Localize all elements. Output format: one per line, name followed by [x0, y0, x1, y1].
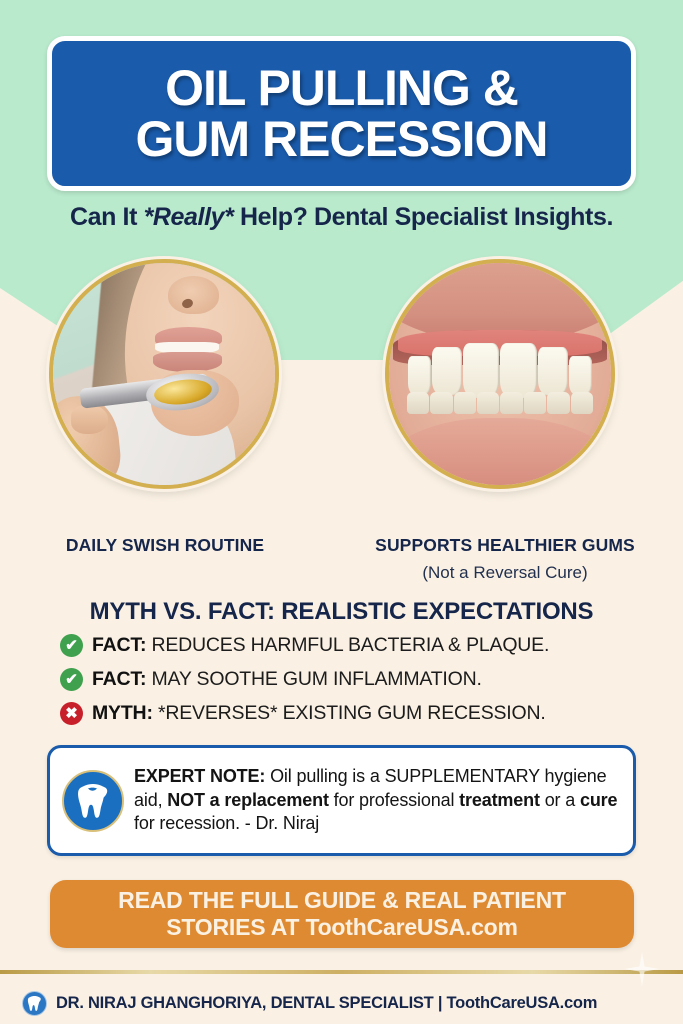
photo-illustration-oil-spoon — [53, 263, 275, 485]
expert-note-box: EXPERT NOTE: Oil pulling is a SUPPLEMENT… — [47, 745, 636, 856]
expert-note-text: EXPERT NOTE: Oil pulling is a SUPPLEMENT… — [134, 765, 619, 836]
caption-left: DAILY SWISH ROUTINE — [20, 535, 310, 556]
tooth-icon — [62, 770, 124, 832]
expert-note-bold3: cure — [580, 790, 617, 810]
list-item-text: FACT: MAY SOOTHE GUM INFLAMMATION. — [92, 668, 482, 691]
subtitle-after: Help? Dental Specialist Insights. — [233, 203, 613, 231]
list-item-body: MAY SOOTHE GUM INFLAMMATION. — [146, 668, 481, 690]
tooth-icon — [22, 991, 47, 1016]
subtitle: Can It *Really* Help? Dental Specialist … — [0, 203, 683, 232]
expert-note-bold2: treatment — [459, 790, 540, 810]
close-up-smile-gums-photo — [385, 259, 615, 489]
list-item-body: REDUCES HARMFUL BACTERIA & PLAQUE. — [146, 634, 549, 656]
myth-vs-fact-list: ✔ FACT: REDUCES HARMFUL BACTERIA & PLAQU… — [60, 628, 660, 730]
list-item: ✔ FACT: MAY SOOTHE GUM INFLAMMATION. — [60, 662, 660, 696]
check-circle-icon: ✔ — [60, 634, 83, 657]
x-circle-icon: ✖ — [60, 702, 83, 725]
expert-note-label: EXPERT NOTE: — [134, 766, 265, 786]
subtitle-before: Can It — [70, 203, 144, 231]
read-full-guide-cta-button[interactable]: READ THE FULL GUIDE & REAL PATIENT STORI… — [50, 880, 634, 948]
list-item-body: *REVERSES* EXISTING GUM RECESSION. — [153, 702, 546, 724]
sparkle-decoration — [625, 952, 659, 986]
myth-vs-fact-heading: MYTH VS. FACT: REALISTIC EXPECTATIONS — [0, 598, 683, 626]
list-item-text: FACT: REDUCES HARMFUL BACTERIA & PLAQUE. — [92, 634, 549, 657]
footer-divider — [0, 970, 683, 974]
caption-right: SUPPORTS HEALTHIER GUMS — [340, 535, 670, 556]
expert-note-part3: or a — [540, 790, 580, 810]
list-item: ✖ MYTH: *REVERSES* EXISTING GUM RECESSIO… — [60, 696, 660, 730]
list-item-label: FACT: — [92, 634, 146, 656]
caption-right-sub: (Not a Reversal Cure) — [340, 563, 670, 583]
expert-note-part2: for professional — [329, 790, 459, 810]
list-item: ✔ FACT: REDUCES HARMFUL BACTERIA & PLAQU… — [60, 628, 660, 662]
infographic-poster: OIL PULLING & GUM RECESSION Can It *Real… — [0, 0, 683, 1024]
title-line-2: GUM RECESSION — [135, 114, 547, 165]
list-item-text: MYTH: *REVERSES* EXISTING GUM RECESSION. — [92, 702, 546, 725]
footer-credit-text: DR. NIRAJ GHANGHORIYA, DENTAL SPECIALIST… — [56, 994, 597, 1013]
cta-line-1: READ THE FULL GUIDE & REAL PATIENT — [118, 887, 566, 914]
expert-note-bold1: NOT a replacement — [167, 790, 329, 810]
list-item-label: FACT: — [92, 668, 146, 690]
list-item-label: MYTH: — [92, 702, 153, 724]
check-circle-icon: ✔ — [60, 668, 83, 691]
woman-with-oil-spoon-photo — [49, 259, 279, 489]
photo-illustration-smile — [389, 263, 611, 485]
title-banner: OIL PULLING & GUM RECESSION — [47, 36, 636, 191]
expert-note-part4: for recession. - Dr. Niraj — [134, 813, 319, 833]
footer-bar: DR. NIRAJ GHANGHORIYA, DENTAL SPECIALIST… — [0, 982, 683, 1024]
title-line-1: OIL PULLING & — [165, 63, 518, 114]
subtitle-emphasis: *Really* — [144, 203, 234, 231]
cta-line-2: STORIES AT ToothCareUSA.com — [166, 914, 518, 941]
